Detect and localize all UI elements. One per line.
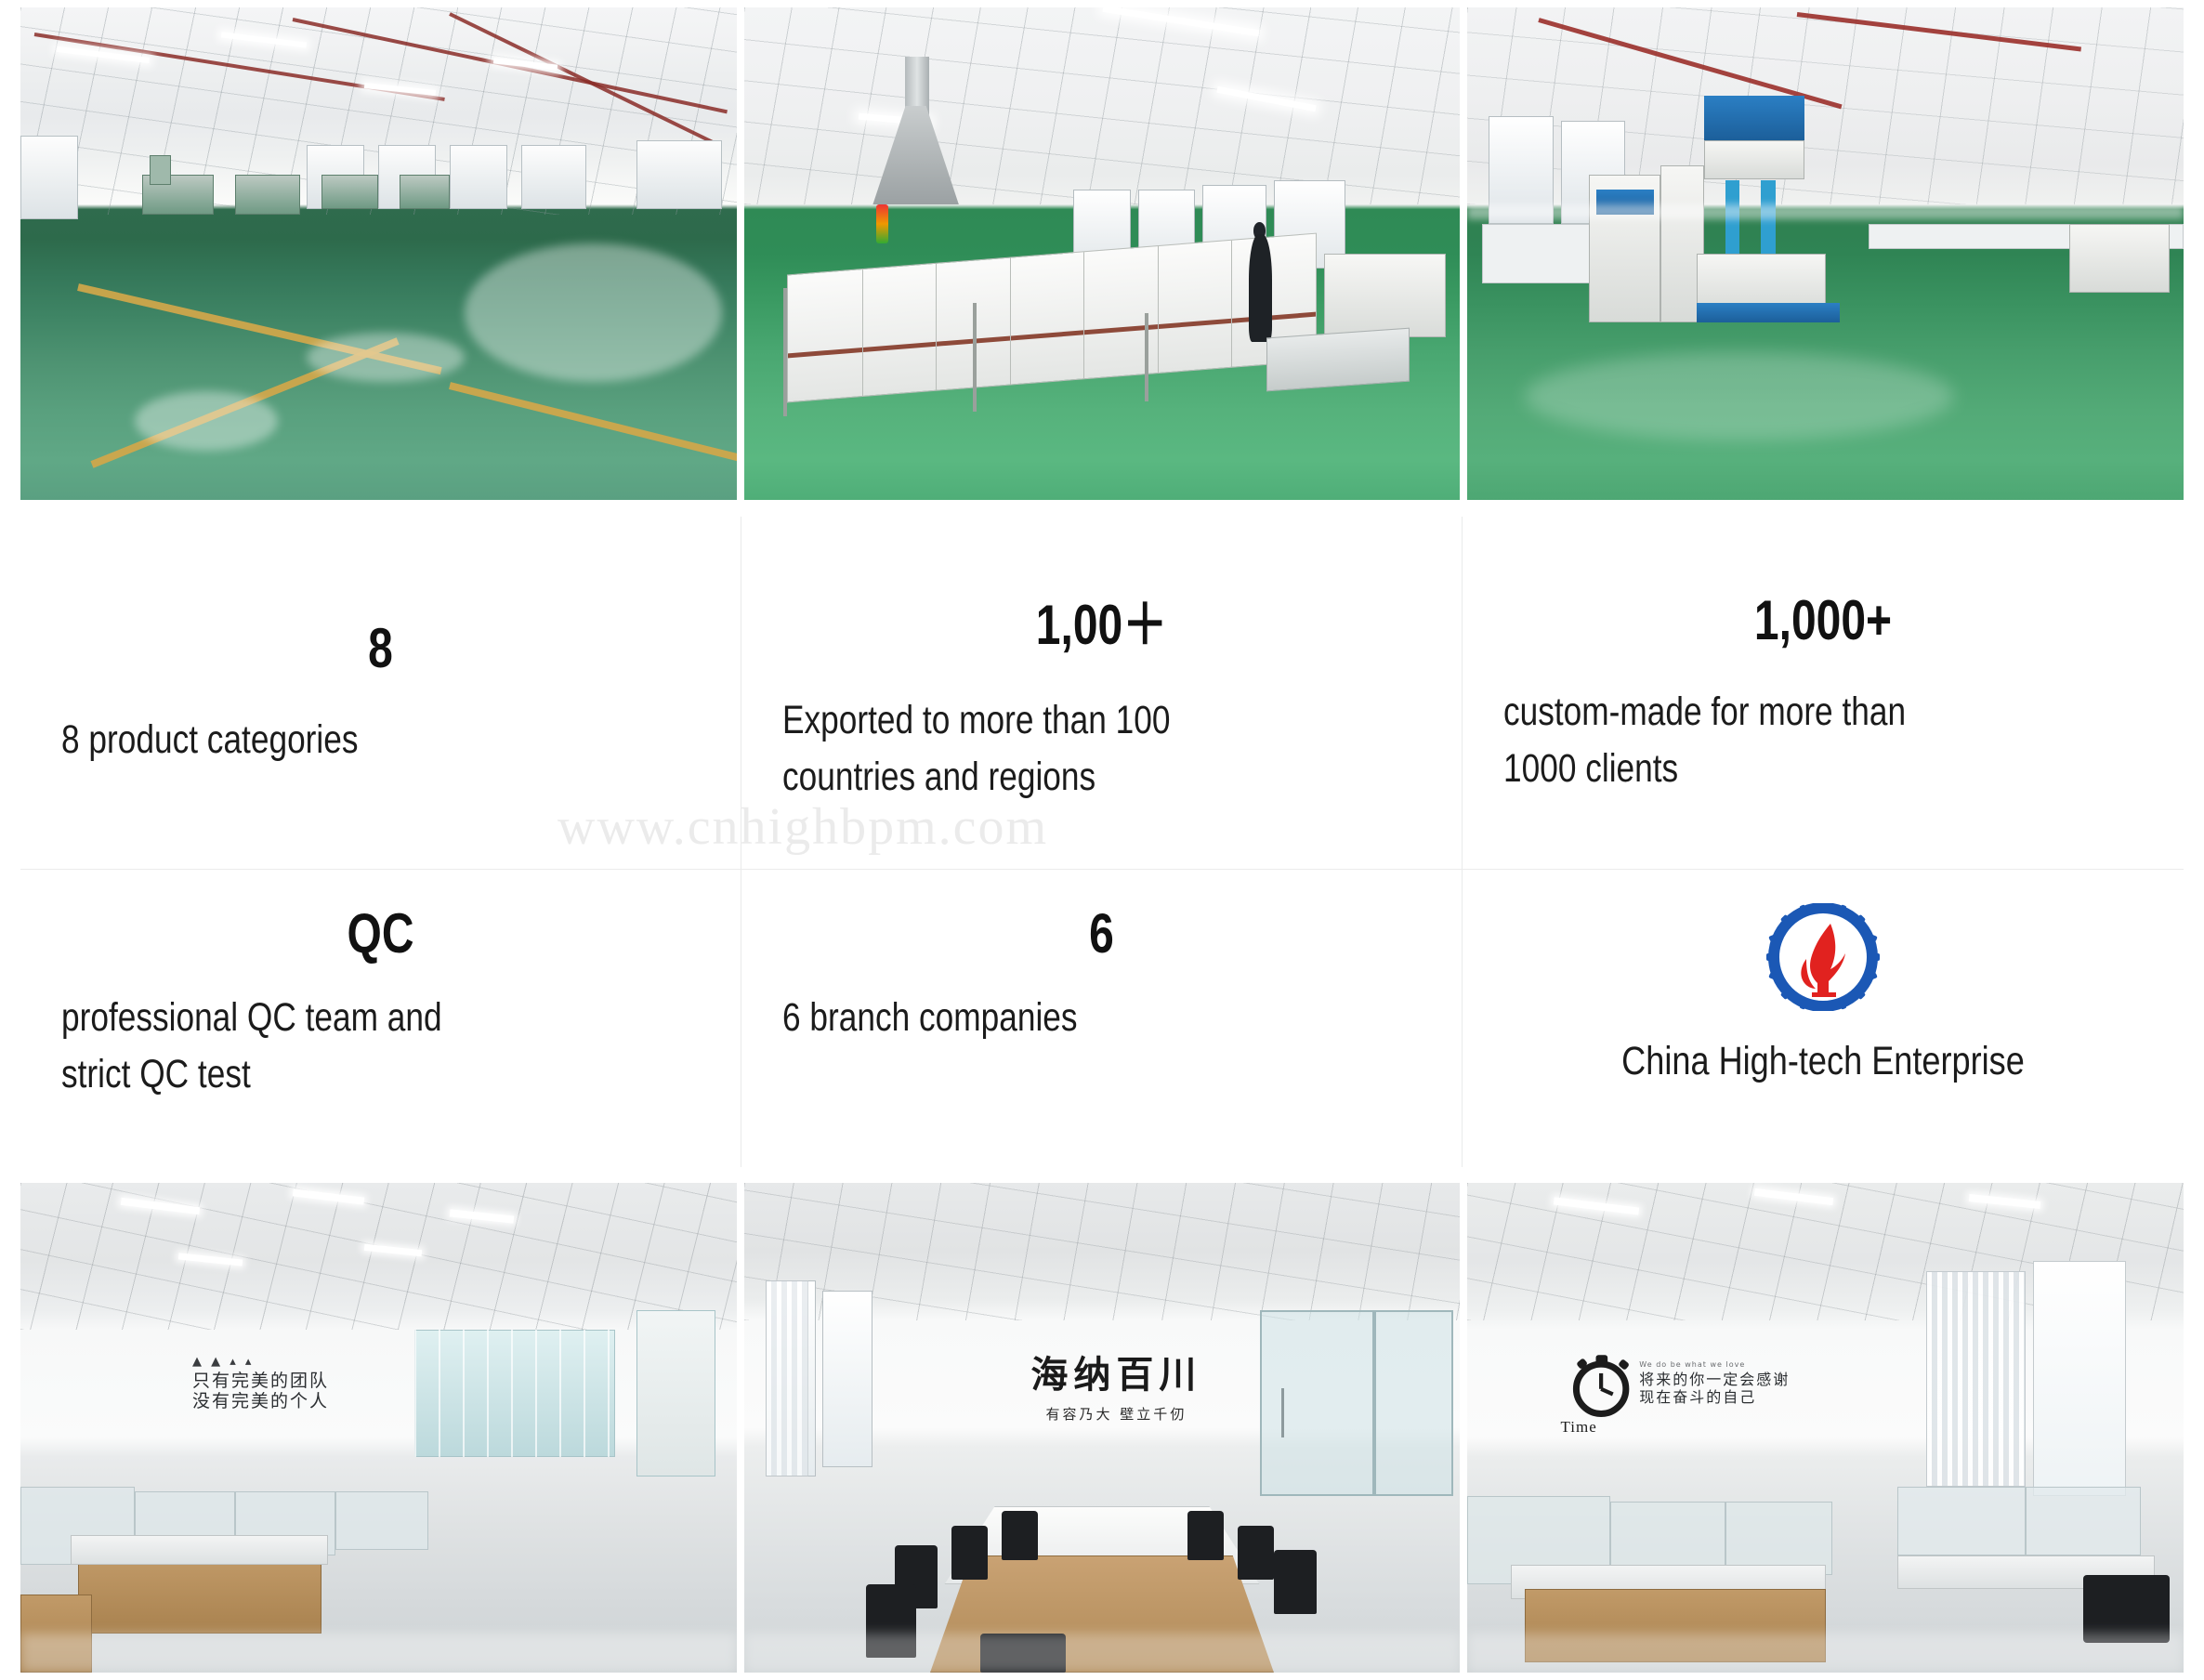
stats-grid: 8 8 product categories 1,00＋ Exported to… xyxy=(20,517,2184,1167)
machine-platform xyxy=(1697,303,1840,322)
stat-number: 1,00＋ xyxy=(846,580,1358,661)
wall-decal-line-1: 将来的你一定会感谢 xyxy=(1639,1371,1790,1388)
wall-panel xyxy=(20,136,78,219)
desk-partition xyxy=(1897,1487,2027,1555)
top-photo-row xyxy=(20,7,2184,500)
stat-cell-export-countries: 1,00＋ Exported to more than 100 countrie… xyxy=(741,517,1463,870)
photo-open-plan-office: ▲ ▲ ▴ ▴ 只有完美的团队 没有完美的个人 xyxy=(20,1183,737,1673)
stat-description: 6 branch companies xyxy=(782,990,1078,1046)
stat-description: custom-made for more than 1000 clients xyxy=(1503,684,1906,797)
stat-description: China High-tech Enterprise xyxy=(1555,1033,2092,1090)
wall-decal-line-2: 现在奋斗的自己 xyxy=(1639,1388,1756,1406)
wall-panel xyxy=(636,1310,715,1477)
stat-number: 8 xyxy=(125,616,636,680)
floor-reflection xyxy=(465,243,722,381)
calligraphy-sub: 有容乃大 壁立千仞 xyxy=(1046,1404,1187,1424)
floor-marking xyxy=(449,382,736,462)
chair xyxy=(1274,1550,1317,1614)
machine-body xyxy=(1704,140,1804,179)
oven-leg xyxy=(973,303,977,412)
desk-top xyxy=(71,1535,328,1565)
bottom-photo-row: ▲ ▲ ▴ ▴ 只有完美的团队 没有完美的个人 海纳百川 有容乃大 壁立千仞 xyxy=(20,1183,2184,1673)
window xyxy=(822,1291,872,1467)
chair xyxy=(1002,1511,1038,1560)
reception-desk xyxy=(78,1555,321,1634)
door-handle xyxy=(1281,1388,1284,1437)
assembly-machine xyxy=(321,175,379,209)
stat-description: professional QC team and strict QC test xyxy=(61,990,442,1103)
curtain xyxy=(1926,1271,2027,1487)
wall-calligraphy: 海纳百川 有容乃大 壁立千仞 xyxy=(988,1330,1245,1437)
floor-reflection xyxy=(307,333,465,382)
photo-reflow-oven-line xyxy=(744,7,1461,500)
calligraphy-main: 海纳百川 xyxy=(1030,1345,1201,1398)
oven-stripe xyxy=(788,312,1316,359)
glass-partition xyxy=(1374,1310,1453,1496)
photo-vertical-machine-room xyxy=(1467,7,2184,500)
stat-cell-qc-team: QC professional QC team and strict QC te… xyxy=(20,870,741,1167)
stat-cell-branch-companies: 6 6 branch companies xyxy=(741,870,1463,1167)
decal-brand-text: Time xyxy=(1561,1418,1597,1437)
stat-cell-product-categories: 8 8 product categories xyxy=(20,517,741,870)
photo-meeting-room: 海纳百川 有容乃大 壁立千仞 xyxy=(744,1183,1461,1673)
cabinet-seams xyxy=(414,1330,615,1457)
stat-description: 8 product categories xyxy=(61,712,358,768)
glass-door xyxy=(1260,1310,1374,1496)
ceiling-grid xyxy=(744,7,1461,204)
window xyxy=(450,145,507,209)
machine-head xyxy=(1704,96,1804,140)
desk-partition xyxy=(2026,1487,2140,1555)
work-table xyxy=(2069,224,2170,293)
floor-reflection xyxy=(135,391,278,451)
chair xyxy=(1238,1526,1274,1580)
photo-production-workshop xyxy=(20,7,737,500)
assembly-machine xyxy=(235,175,299,214)
chair xyxy=(1187,1511,1224,1560)
wall-decal-line-1: 只有完美的团队 xyxy=(192,1371,329,1391)
signal-tower-light xyxy=(876,204,887,243)
reflow-oven xyxy=(787,233,1317,403)
curtain xyxy=(766,1280,808,1477)
wall-decal-line-2: 没有完美的个人 xyxy=(192,1391,329,1411)
worker xyxy=(1249,234,1272,343)
chair xyxy=(951,1526,988,1580)
wall-decal-text: We do be what we love 将来的你一定会感谢 现在奋斗的自己 xyxy=(1639,1354,1790,1407)
stat-description: Exported to more than 100 countries and … xyxy=(782,692,1171,806)
assembly-machine xyxy=(400,175,450,209)
wall-decal-text: ▲ ▲ ▴ ▴ 只有完美的团队 没有完美的个人 xyxy=(192,1349,329,1411)
floor-reflection xyxy=(744,1634,1461,1673)
side-equipment xyxy=(1324,254,1446,337)
work-table xyxy=(1266,327,1410,391)
company-profile-page: 8 8 product categories 1,00＋ Exported to… xyxy=(0,0,2204,1680)
stat-number: 6 xyxy=(846,901,1358,965)
photo-office-time-decal: Time We do be what we love 将来的你一定会感谢 现在奋… xyxy=(1467,1183,2184,1673)
high-tech-enterprise-badge-icon xyxy=(1730,901,1916,1013)
window xyxy=(2033,1261,2126,1496)
stat-number: 1,000+ xyxy=(1568,588,2079,652)
assembly-machine xyxy=(150,155,171,185)
floor-reflection xyxy=(20,1634,737,1673)
floor-reflection xyxy=(1467,204,2184,219)
window xyxy=(521,145,585,209)
oven-leg xyxy=(783,288,787,416)
desk-partition xyxy=(335,1491,428,1550)
floor-reflection xyxy=(1467,1634,2184,1673)
desk-partition xyxy=(1725,1502,1833,1575)
floor-reflection xyxy=(1525,352,1954,440)
window xyxy=(636,140,722,209)
stat-cell-custom-clients: 1,000+ custom-made for more than 1000 cl… xyxy=(1463,517,2184,870)
stat-number: QC xyxy=(125,901,636,965)
stat-cell-high-tech-enterprise: China High-tech Enterprise xyxy=(1463,870,2184,1167)
oven-leg xyxy=(1145,313,1148,401)
